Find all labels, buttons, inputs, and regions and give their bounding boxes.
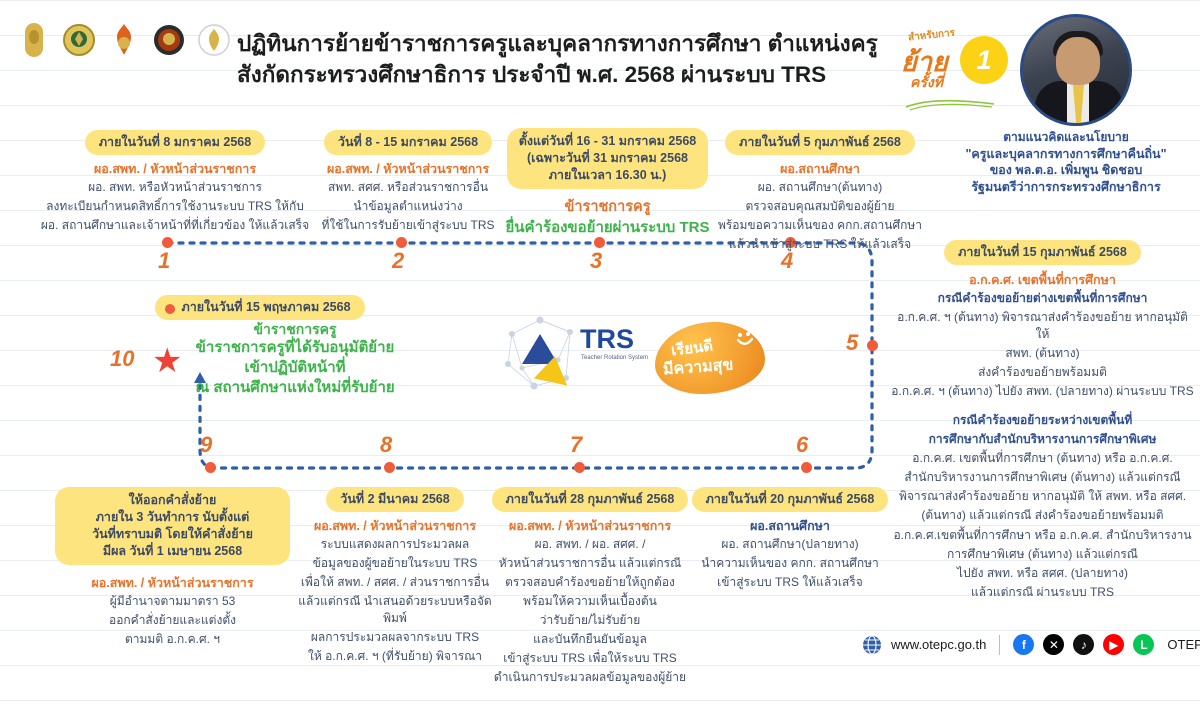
- step-9-desc-line-2: ออกคำสั่งย้ายและแต่งตั้ง: [55, 612, 290, 629]
- page-title: ปฏิทินการย้ายข้าราชการครูและบุคลากรทางกา…: [237, 28, 897, 90]
- step-9-date: ให้ออกคำสั่งย้าย ภายใน 3 วันทำการ นับตั้…: [55, 487, 290, 565]
- step-3-role: ข้าราชการครู: [500, 195, 715, 218]
- step-8-desc-line-1: ระบบแสดงผลการประมวลผล: [290, 536, 500, 553]
- step-4-desc-line-3: พร้อมขอความเห็นของ คกก.สถานศึกษา: [700, 217, 940, 234]
- step-6-role: ผอ.สถานศึกษา: [690, 518, 890, 534]
- crest-otepc-icon: [196, 20, 232, 60]
- crest-seal-icon: [151, 20, 187, 60]
- step-7-desc-line-4: พร้อมให้ความเห็นเบื้องต้น: [485, 593, 695, 610]
- policy-line-4: รัฐมนตรีว่าการกระทรวงศึกษาธิการ: [935, 179, 1197, 196]
- step-5-case-2-title-line-2: การศึกษากับสำนักบริหารงานการศึกษาพิเศษ: [890, 431, 1195, 448]
- step-6-desc-line-3: เข้าสู่ระบบ TRS ให้แล้วเสร็จ: [690, 574, 890, 591]
- step-5-case-2-line-2: สำนักบริหารงานการศึกษาพิเศษ (ต้นทาง) แล้…: [890, 469, 1195, 486]
- step-2-desc-line-1: สพท. สศศ. หรือส่วนราชการอื่น: [308, 179, 508, 196]
- step-number-6: 6: [796, 432, 808, 458]
- step-8-desc-line-2: ข้อมูลของผู้ขอย้ายในระบบ TRS: [290, 555, 500, 572]
- step-5-case-2-line-3: พิจารณาส่งคำร้องขอย้าย หากอนุมัติ ให้ สพ…: [890, 488, 1195, 505]
- step-6-date: ภายในวันที่ 20 กุมภาพันธ์ 2568: [692, 487, 889, 512]
- step-7-desc-line-1: ผอ. สพท. / ผอ. สศศ. /: [485, 536, 695, 553]
- step-1-desc-line-2: ลงทะเบียนกำหนดสิทธิ์การใช้งานระบบ TRS ให…: [20, 198, 330, 215]
- step-number-8: 8: [380, 432, 392, 458]
- trs-logo: TRS Teacher Rotation System: [500, 312, 650, 407]
- timeline-dot-1: [162, 237, 173, 248]
- social-handle: OTEPCofficial: [1167, 637, 1200, 652]
- infographic-canvas: ปฏิทินการย้ายข้าราชการครูและบุคลากรทางกา…: [0, 0, 1200, 705]
- step-7-role: ผอ.สพท. / หัวหน้าส่วนราชการ: [485, 518, 695, 534]
- step-10-desc-line-2: เข้าปฏิบัติหน้าที่: [165, 358, 425, 378]
- step-10-bullet-icon: [165, 304, 175, 314]
- badge-swoosh-icon: [904, 98, 996, 112]
- step-4-desc-line-1: ผอ. สถานศึกษา(ต้นทาง): [700, 179, 940, 196]
- step-1-desc-line-1: ผอ. สพท. หรือหัวหน้าส่วนราชการ: [20, 179, 330, 196]
- timeline-dot-6: [801, 462, 812, 473]
- line-icon[interactable]: L: [1133, 634, 1154, 655]
- step-8-date: วันที่ 2 มีนาคม 2568: [326, 487, 463, 512]
- step-5-date: ภายในวันที่ 15 กุมภาพันธ์ 2568: [944, 240, 1141, 265]
- step-7-desc-line-8: ดำเนินการประมวลผลข้อมูลของผู้ย้าย: [485, 669, 695, 686]
- step-8-desc-line-6: ให้ อ.ก.ค.ศ. ฯ (ที่รับย้าย) พิจารณา: [290, 648, 500, 665]
- step-5-case-2-line-5: อ.ก.ค.ศ.เขตพื้นที่การศึกษา หรือ อ.ก.ค.ศ.…: [890, 527, 1195, 544]
- step-3-date: ตั้งแต่วันที่ 16 - 31 มกราคม 2568 (เฉพาะ…: [507, 128, 708, 189]
- step-block-1: ภายในวันที่ 8 มกราคม 2568 ผอ.สพท. / หัวห…: [20, 130, 330, 234]
- step-4-date: ภายในวันที่ 5 กุมภาพันธ์ 2568: [725, 130, 915, 155]
- x-twitter-icon[interactable]: ✕: [1043, 634, 1064, 655]
- step-number-7: 7: [570, 432, 582, 458]
- tiktok-icon[interactable]: ♪: [1073, 634, 1094, 655]
- step-5-case-1-line-1: อ.ก.ค.ศ. ฯ (ต้นทาง) พิจารณาส่งคำร้องขอย้…: [890, 309, 1195, 343]
- step-10-role: ข้าราชการครู: [165, 320, 425, 338]
- step-5-case-2-line-8: แล้วแต่กรณี ผ่านระบบ TRS: [890, 584, 1195, 601]
- step-5-case-1-line-4: อ.ก.ค.ศ. ฯ (ต้นทาง) ไปยัง สพท. (ปลายทาง)…: [890, 383, 1195, 400]
- step-block-2: วันที่ 8 - 15 มกราคม 2568 ผอ.สพท. / หัวห…: [308, 130, 508, 234]
- trs-logo-subtitle: Teacher Rotation System: [581, 355, 648, 361]
- step-2-role: ผอ.สพท. / หัวหน้าส่วนราชการ: [308, 161, 508, 177]
- step-5-case-2-line-1: อ.ก.ค.ศ. เขตพื้นที่การศึกษา (ต้นทาง) หรื…: [890, 450, 1195, 467]
- step-7-desc-line-5: ว่ารับย้าย/ไม่รับย้าย: [485, 612, 695, 629]
- facebook-icon[interactable]: f: [1013, 634, 1034, 655]
- crest-ministry-icon: [106, 20, 142, 60]
- step-7-desc-line-3: ตรวจสอบคำร้องขอย้ายให้ถูกต้อง: [485, 574, 695, 591]
- step-block-4: ภายในวันที่ 5 กุมภาพันธ์ 2568 ผอ.สถานศึก…: [700, 130, 940, 253]
- step-7-desc-line-7: เข้าสู่ระบบ TRS เพื่อให้ระบบ TRS: [485, 650, 695, 667]
- step-9-desc-line-1: ผู้มีอำนาจตามมาตรา 53: [55, 593, 290, 610]
- step-3-desc-line-1: ยื่นคำร้องขอย้ายผ่านระบบ TRS: [500, 218, 715, 238]
- badge-round-number: 1: [960, 36, 1008, 84]
- ministry-crest-row: [16, 20, 232, 60]
- step-9-role: ผอ.สพท. / หัวหน้าส่วนราชการ: [55, 575, 290, 591]
- step-block-7: ภายในวันที่ 28 กุมภาพันธ์ 2568 ผอ.สพท. /…: [485, 487, 695, 686]
- policy-quote: ตามแนวคิดและนโยบาย "ครูและบุคลากรทางการศ…: [935, 130, 1197, 195]
- policy-line-3: ของ พล.ต.อ. เพิ่มพูน ชิดชอบ: [935, 162, 1197, 179]
- step-8-role: ผอ.สพท. / หัวหน้าส่วนราชการ: [290, 518, 500, 534]
- step-number-2: 2: [392, 248, 404, 274]
- step-7-desc-line-2: หัวหน้าส่วนราชการอื่น แล้วแต่กรณี: [485, 555, 695, 572]
- step-8-desc-line-3: เพื่อให้ สพท. / สศศ. / ส่วนราชการอื่น: [290, 574, 500, 591]
- step-1-desc-line-3: ผอ. สถานศึกษาและเจ้าหน้าที่ที่เกี่ยวข้อง…: [20, 217, 330, 234]
- step-7-date: ภายในวันที่ 28 กุมภาพันธ์ 2568: [492, 487, 689, 512]
- crest-okcc-icon: [61, 20, 97, 60]
- step-number-1: 1: [158, 248, 170, 274]
- footer-divider: [999, 635, 1000, 655]
- step-5-case-1-title: กรณีคำร้องขอย้ายต่างเขตพื้นที่การศึกษา: [890, 290, 1195, 307]
- step-2-desc-line-3: ที่ใช้ในการรับย้ายเข้าสู่ระบบ TRS: [308, 217, 508, 234]
- step-block-8: วันที่ 2 มีนาคม 2568 ผอ.สพท. / หัวหน้าส่…: [290, 487, 500, 665]
- step-5-case-1-line-3: ส่งคำร้องขอย้ายพร้อมมติ: [890, 364, 1195, 381]
- step-7-desc-line-6: และบันทึกยืนยันข้อมูล: [485, 631, 695, 648]
- step-6-desc-line-1: ผอ. สถานศึกษา(ปลายทาง): [690, 536, 890, 553]
- step-10-date: ภายในวันที่ 15 พฤษภาคม 2568: [181, 300, 350, 314]
- step-4-role: ผอ.สถานศึกษา: [700, 161, 940, 177]
- step-5-case-1-line-2: สพท. (ต้นทาง): [890, 345, 1195, 362]
- step-8-desc-line-5: ผลการประมวลผลจากระบบ TRS: [290, 629, 500, 646]
- step-5-role: อ.ก.ค.ศ. เขตพื้นที่การศึกษา: [890, 272, 1195, 288]
- timeline-dot-5: [867, 340, 878, 351]
- step-6-desc-line-2: นำความเห็นของ คกก. สถานศึกษา: [690, 555, 890, 572]
- globe-icon: [862, 635, 882, 655]
- step-10-desc-line-3: ณ สถานศึกษาแห่งใหม่ที่รับย้าย: [165, 378, 425, 398]
- step-number-9: 9: [200, 432, 212, 458]
- timeline-dot-3: [594, 237, 605, 248]
- step-10-desc-line-1: ข้าราชการครูที่ได้รับอนุมัติย้าย: [165, 338, 425, 358]
- step-5-case-2-line-6: การศึกษาพิเศษ (ต้นทาง) แล้วแต่กรณี: [890, 546, 1195, 563]
- timeline-dot-2: [396, 237, 407, 248]
- step-2-date: วันที่ 8 - 15 มกราคม 2568: [324, 130, 492, 155]
- step-block-6: ภายในวันที่ 20 กุมภาพันธ์ 2568 ผอ.สถานศึ…: [690, 487, 890, 591]
- step-1-date: ภายในวันที่ 8 มกราคม 2568: [85, 130, 265, 155]
- learn-well-happy-badge: เรียนดี มีความสุข: [655, 322, 765, 394]
- minister-portrait-avatar: [1020, 14, 1132, 126]
- timeline-dot-8: [384, 462, 395, 473]
- step-number-5: 5: [846, 330, 858, 356]
- step-5-case-2-title-line-1: กรณีคำร้องขอย้ายระหว่างเขตพื้นที่: [890, 412, 1195, 429]
- step-block-10: ภายในวันที่ 15 พฤษภาคม 2568 ข้าราชการครู…: [95, 295, 425, 398]
- step-4-desc-line-2: ตรวจสอบคุณสมบัติของผู้ย้าย: [700, 198, 940, 215]
- step-block-3: ตั้งแต่วันที่ 16 - 31 มกราคม 2568 (เฉพาะ…: [500, 128, 715, 237]
- youtube-icon[interactable]: ▶: [1103, 634, 1124, 655]
- trs-logo-title: TRS: [580, 324, 634, 354]
- step-number-3: 3: [590, 248, 602, 274]
- smiley-icon: [735, 330, 755, 350]
- happy-line-2: มีความสุข: [662, 353, 734, 383]
- footer-bar: www.otepc.go.th f ✕ ♪ ▶ L OTEPCofficial: [862, 634, 1200, 655]
- timeline-dot-7: [574, 462, 585, 473]
- policy-line-2: "ครูและบุคลากรทางการศึกษาคืนถิ่น": [935, 146, 1197, 163]
- policy-line-1: ตามแนวคิดและนโยบาย: [935, 130, 1197, 146]
- step-2-desc-line-2: นำข้อมูลตำแหน่งว่าง: [308, 198, 508, 215]
- step-block-9: ให้ออกคำสั่งย้าย ภายใน 3 วันทำการ นับตั้…: [55, 487, 290, 648]
- website-url[interactable]: www.otepc.go.th: [891, 637, 986, 652]
- timeline-dot-9: [205, 462, 216, 473]
- step-5-case-2-line-7: ไปยัง สพท. หรือ สศศ. (ปลายทาง): [890, 565, 1195, 582]
- page-title-line-1: ปฏิทินการย้ายข้าราชการครูและบุคลากรทางกา…: [237, 28, 897, 59]
- step-5-case-2-line-4: (ต้นทาง) แล้วแต่กรณี ส่งคำร้องขอย้ายพร้อ…: [890, 507, 1195, 524]
- badge-sub-label: ครั้งที่: [910, 72, 943, 94]
- step-9-desc-line-3: ตามมติ อ.ก.ค.ศ. ฯ: [55, 631, 290, 648]
- step-10-date-pill: ภายในวันที่ 15 พฤษภาคม 2568: [155, 295, 364, 320]
- step-1-role: ผอ.สพท. / หัวหน้าส่วนราชการ: [20, 161, 330, 177]
- crest-garuda-icon: [16, 20, 52, 60]
- move-round-badge: สำหรับการ ย้าย ครั้งที่ 1: [898, 24, 1010, 116]
- step-8-desc-line-4: แล้วแต่กรณี นำเสนอด้วยระบบหรือจัดพิมพ์: [290, 593, 500, 627]
- step-block-5: ภายในวันที่ 15 กุมภาพันธ์ 2568 อ.ก.ค.ศ. …: [890, 240, 1195, 601]
- page-title-line-2: สังกัดกระทรวงศึกษาธิการ ประจำปี พ.ศ. 256…: [237, 59, 897, 90]
